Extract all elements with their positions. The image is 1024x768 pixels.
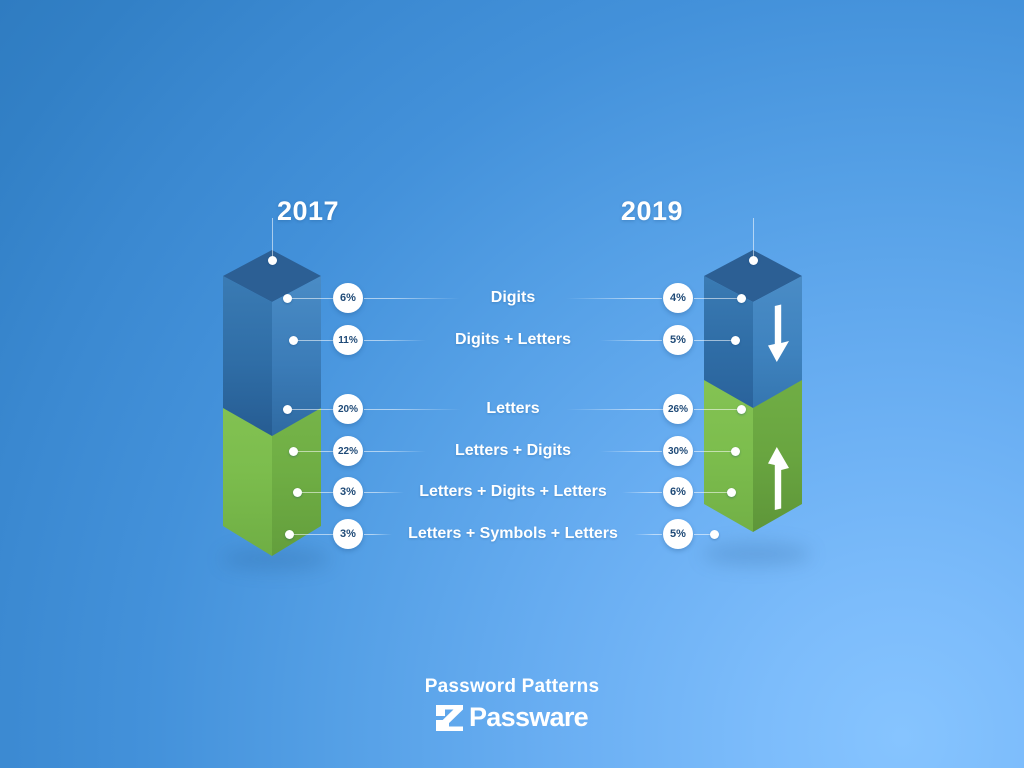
left-percent-badge: 20% [333, 394, 363, 424]
left-percent-badge: 22% [333, 436, 363, 466]
right-percent-badge: 30% [663, 436, 693, 466]
right-percent-badge: 26% [663, 394, 693, 424]
left-percent-badge: 6% [333, 283, 363, 313]
right-label-leader [600, 451, 662, 452]
column-2019-shape [696, 236, 811, 566]
left-label-leader [364, 534, 392, 535]
infographic-canvas: 2017 [0, 0, 1024, 768]
right-leader-line [694, 492, 731, 493]
right-node-dot [731, 336, 740, 345]
left-node-dot [293, 488, 302, 497]
left-label-leader [364, 451, 426, 452]
column-2017-shape [215, 236, 330, 566]
right-node-dot [731, 447, 740, 456]
brand-name: Passware [469, 702, 588, 733]
right-percent-badge: 4% [663, 283, 693, 313]
right-node-dot [737, 405, 746, 414]
left-label-leader [364, 492, 404, 493]
left-label-leader [364, 340, 426, 341]
right-node-dot [727, 488, 736, 497]
left-leader-line [298, 451, 333, 452]
passware-logo-mark [436, 705, 463, 731]
pattern-label: Letters [486, 400, 539, 418]
right-percent-badge: 5% [663, 325, 693, 355]
pattern-label: Digits + Letters [455, 331, 571, 349]
year-2017-dot [268, 256, 277, 265]
left-leader-line [292, 409, 333, 410]
pattern-label: Letters + Symbols + Letters [408, 525, 618, 543]
year-label-2017: 2017 [277, 196, 339, 227]
right-label-leader [634, 534, 662, 535]
left-node-dot [289, 447, 298, 456]
pattern-label: Letters + Digits [455, 442, 571, 460]
right-label-leader [622, 492, 662, 493]
left-node-dot [283, 294, 292, 303]
column-2019 [696, 236, 811, 566]
right-leader-line [694, 298, 741, 299]
right-node-dot [737, 294, 746, 303]
right-percent-badge: 5% [663, 519, 693, 549]
year-label-2019: 2019 [621, 196, 683, 227]
left-label-leader [364, 409, 461, 410]
left-node-dot [289, 336, 298, 345]
left-leader-line [302, 492, 333, 493]
pattern-label: Letters + Digits + Letters [419, 483, 607, 501]
left-leader-line [294, 534, 333, 535]
right-percent-badge: 6% [663, 477, 693, 507]
right-leader-line [694, 340, 735, 341]
left-label-leader [364, 298, 460, 299]
column-2017 [215, 236, 330, 566]
left-percent-badge: 11% [333, 325, 363, 355]
year-2017-stem [272, 218, 273, 260]
left-percent-badge: 3% [333, 477, 363, 507]
brand-logo: Passware [0, 702, 1024, 733]
right-leader-line [694, 409, 741, 410]
pattern-label: Digits [491, 289, 535, 307]
right-label-leader [600, 340, 662, 341]
right-node-dot [710, 530, 719, 539]
right-label-leader [566, 298, 662, 299]
left-percent-badge: 3% [333, 519, 363, 549]
year-2019-dot [749, 256, 758, 265]
footer-title: Password Patterns [0, 676, 1024, 698]
right-label-leader [566, 409, 663, 410]
left-leader-line [292, 298, 333, 299]
left-node-dot [283, 405, 292, 414]
left-leader-line [298, 340, 333, 341]
year-2019-stem [753, 218, 754, 260]
left-node-dot [285, 530, 294, 539]
right-leader-line [694, 451, 735, 452]
